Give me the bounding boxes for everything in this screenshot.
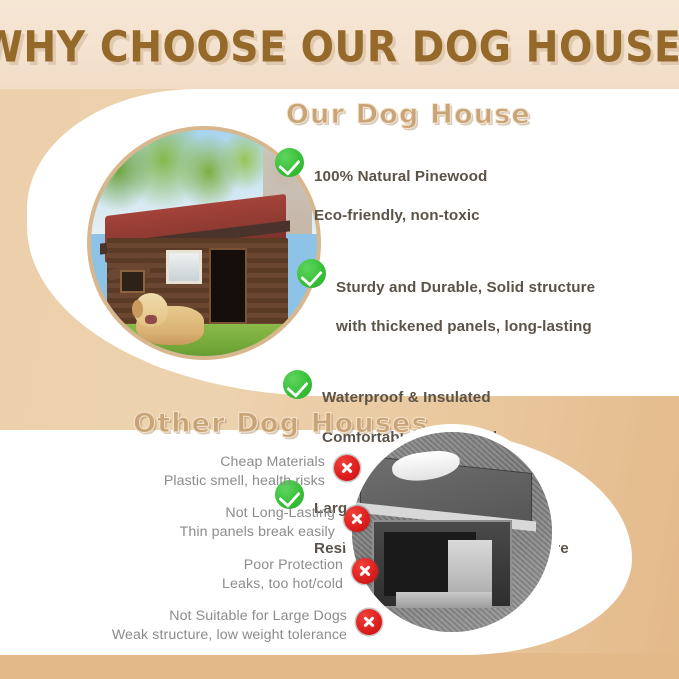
- page-title: WHY CHOOSE OUR DOG HOUSE?": [0, 22, 679, 72]
- con-text: Not Long-Lasting Thin panels break easil…: [180, 503, 335, 541]
- photo-oval-frame: [352, 432, 552, 632]
- pro-line-1: 100% Natural Pinewood: [314, 168, 487, 185]
- side-window: [120, 270, 145, 293]
- con-line-2: Weak structure, low weight tolerance: [112, 627, 347, 643]
- pro-text: Sturdy and Durable, Solid structure with…: [336, 257, 595, 357]
- dog-mouth: [145, 315, 156, 324]
- con-line-2: Plastic smell, health risks: [164, 473, 325, 489]
- list-item: Cheap Materials Plastic smell, health ri…: [20, 452, 360, 490]
- con-line-1: Poor Protection: [244, 557, 343, 573]
- pro-text: 100% Natural Pinewood Eco-friendly, non-…: [314, 146, 487, 246]
- con-line-1: Not Long-Lasting: [225, 505, 335, 521]
- con-line-2: Leaks, too hot/cold: [222, 576, 343, 592]
- check-icon: [283, 370, 312, 399]
- infographic-canvas: WHY CHOOSE OUR DOG HOUSE?" Our Dog House: [0, 0, 679, 679]
- cross-icon: [352, 558, 378, 584]
- con-line-2: Thin panels break easily: [180, 524, 335, 540]
- con-text: Cheap Materials Plastic smell, health ri…: [164, 452, 325, 490]
- cons-list: Cheap Materials Plastic smell, health ri…: [20, 452, 360, 658]
- list-item: Not Long-Lasting Thin panels break easil…: [20, 503, 370, 541]
- dog-ear: [132, 300, 143, 318]
- con-text: Poor Protection Leaks, too hot/cold: [222, 555, 343, 593]
- cross-icon: [356, 609, 382, 635]
- pro-line-1: Sturdy and Durable, Solid structure: [336, 279, 595, 296]
- check-icon: [275, 148, 304, 177]
- list-item: Sturdy and Durable, Solid structure with…: [297, 257, 675, 357]
- list-item: Poor Protection Leaks, too hot/cold: [20, 555, 378, 593]
- check-icon: [297, 259, 326, 288]
- pro-line-2: Eco-friendly, non-toxic: [314, 206, 487, 226]
- con-text: Not Suitable for Large Dogs Weak structu…: [112, 606, 347, 644]
- list-item: Not Suitable for Large Dogs Weak structu…: [20, 606, 382, 644]
- pro-line-2: with thickened panels, long-lasting: [336, 317, 595, 337]
- cross-icon: [344, 506, 370, 532]
- cross-icon: [334, 455, 360, 481]
- con-line-1: Cheap Materials: [220, 454, 325, 470]
- list-item: 100% Natural Pinewood Eco-friendly, non-…: [275, 146, 675, 246]
- pro-line-1: Waterproof & Insulated: [322, 389, 491, 406]
- front-window: [166, 250, 202, 284]
- loose-board: [448, 540, 492, 596]
- other-dog-house-photo: [352, 432, 552, 632]
- door-opening: [209, 248, 247, 325]
- bottom-plank: [396, 592, 492, 608]
- con-line-1: Not Suitable for Large Dogs: [169, 608, 347, 624]
